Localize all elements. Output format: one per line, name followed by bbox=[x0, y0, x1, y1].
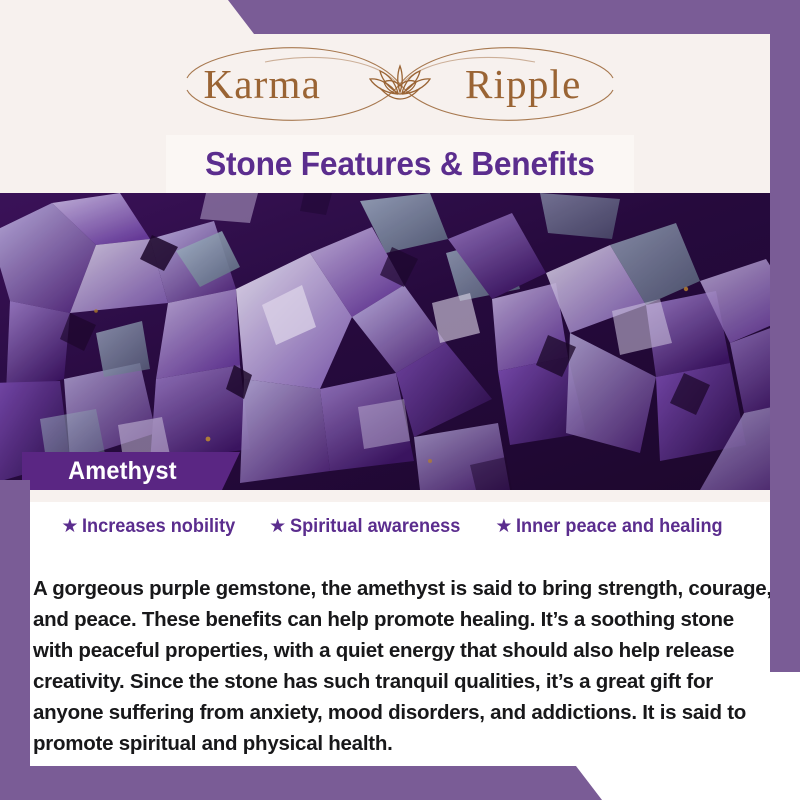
benefit-label-2: Spiritual awareness bbox=[290, 515, 460, 538]
benefit-label-1: Increases nobility bbox=[82, 515, 235, 538]
section-title-band: Stone Features & Benefits bbox=[166, 135, 634, 193]
amethyst-crystal-illustration bbox=[0, 193, 800, 490]
brand-header: Karma Ripple bbox=[0, 34, 800, 135]
benefits-list: ★ Increases nobility ★ Spiritual awarene… bbox=[0, 515, 800, 538]
page-title: Stone Features & Benefits bbox=[205, 145, 595, 183]
frame-right-bar bbox=[770, 0, 800, 672]
gem-name-banner: Amethyst bbox=[22, 452, 240, 490]
benefit-label-3: Inner peace and healing bbox=[516, 515, 723, 538]
product-info-card: Karma Ripple Stone Features & Benefits bbox=[0, 0, 800, 800]
gem-description-text: A gorgeous purple gemstone, the amethyst… bbox=[33, 573, 777, 759]
star-icon: ★ bbox=[269, 517, 286, 536]
brand-name-left: Karma bbox=[203, 61, 321, 107]
benefit-item-3: ★ Inner peace and healing bbox=[495, 515, 738, 538]
frame-top-bar bbox=[0, 0, 800, 34]
brand-logo-graphic: Karma Ripple bbox=[165, 36, 635, 132]
gem-hero-image bbox=[0, 193, 800, 490]
star-icon: ★ bbox=[495, 517, 512, 536]
brand-name-right: Ripple bbox=[465, 61, 582, 107]
star-icon: ★ bbox=[61, 517, 78, 536]
frame-left-bar bbox=[0, 480, 30, 800]
benefit-item-2: ★ Spiritual awareness bbox=[269, 515, 473, 538]
description-panel: ★ Increases nobility ★ Spiritual awarene… bbox=[0, 490, 800, 800]
benefit-item-1: ★ Increases nobility bbox=[61, 515, 247, 538]
lotus-flower-icon bbox=[370, 66, 430, 99]
brand-logo: Karma Ripple bbox=[165, 36, 635, 132]
gem-name-label: Amethyst bbox=[27, 457, 177, 486]
